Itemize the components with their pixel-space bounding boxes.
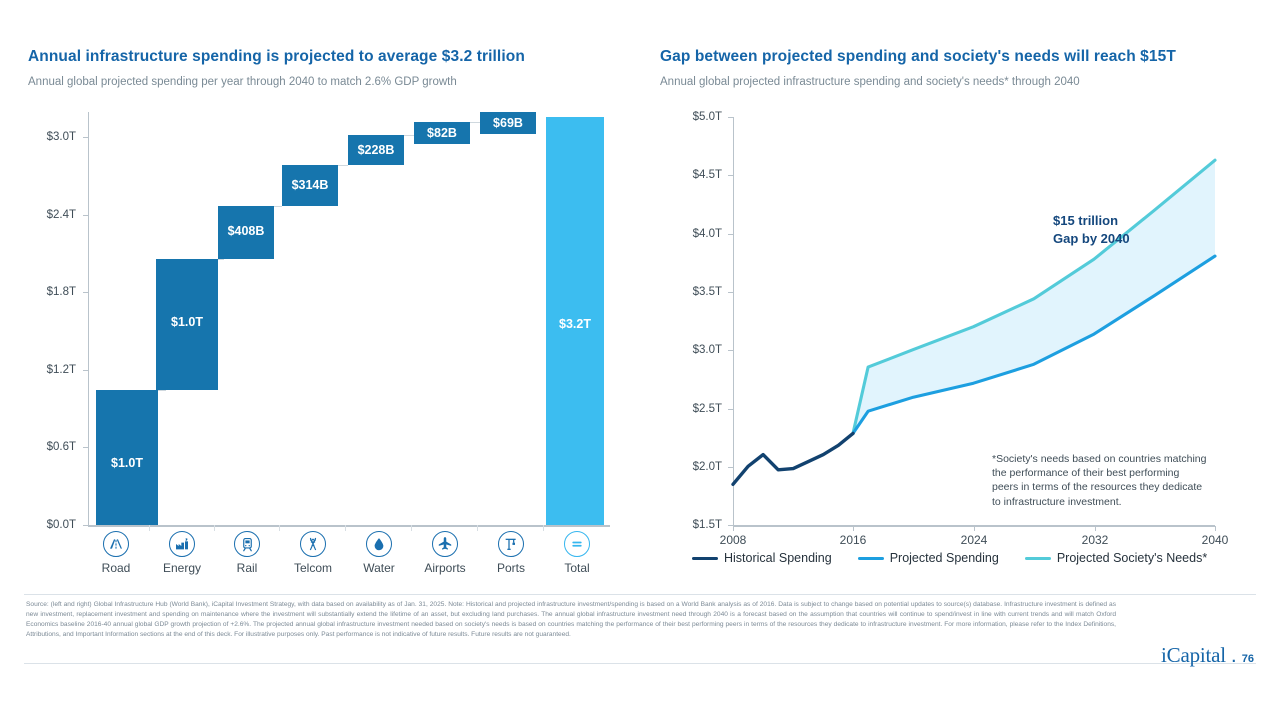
waterfall-bar-value: $1.0T <box>156 315 218 329</box>
page-number: 76 <box>1242 653 1254 665</box>
waterfall-connector <box>218 259 224 260</box>
slide-root: Annual infrastructure spending is projec… <box>0 0 1280 720</box>
waterfall-connector <box>470 122 480 123</box>
xtick-mark <box>733 526 734 531</box>
waterfall-bar-telcom[interactable]: $314B <box>282 165 338 206</box>
category-road[interactable]: Road <box>85 531 147 575</box>
category-total[interactable]: Total <box>546 531 608 575</box>
xtick-mark <box>1215 526 1216 531</box>
series-projected-spending <box>853 256 1215 433</box>
waterfall-bar-value: $69B <box>480 116 536 130</box>
category-telcom[interactable]: Telcom <box>282 531 344 575</box>
category-label: Airports <box>414 561 476 575</box>
category-energy[interactable]: Energy <box>151 531 213 575</box>
ytick-label: $0.0T <box>18 519 76 531</box>
xtick-label: 2008 <box>720 533 747 547</box>
brand-logo: iCapital . 76 <box>1161 643 1254 668</box>
waterfall-connector <box>274 206 282 207</box>
ytick-label: $1.8T <box>18 286 76 298</box>
waterfall-bar-value: $3.2T <box>546 317 604 331</box>
right-chart-panel: Gap between projected spending and socie… <box>640 0 1280 600</box>
waterfall-bar-value: $228B <box>348 143 404 157</box>
category-separator <box>543 525 544 531</box>
rail-train-icon <box>234 531 260 557</box>
ytick-mark <box>728 467 733 468</box>
airplane-icon <box>432 531 458 557</box>
ytick-label: $1.5T <box>662 519 722 531</box>
waterfall-bar-total[interactable]: $3.2T <box>546 117 604 525</box>
ytick-mark <box>728 117 733 118</box>
waterfall-connector <box>158 390 166 391</box>
societys-needs-footnote: *Society's needs based on countries matc… <box>992 452 1207 509</box>
footer-top-rule <box>24 594 1256 595</box>
category-label: Total <box>546 561 608 575</box>
brand-dot: . <box>1231 644 1237 668</box>
category-separator <box>149 525 150 531</box>
left-x-axis <box>88 525 610 527</box>
ytick-mark <box>728 409 733 410</box>
waterfall-bar-airports[interactable]: $82B <box>414 122 470 144</box>
waterfall-bar-value: $82B <box>414 126 470 140</box>
category-label: Water <box>348 561 410 575</box>
waterfall-connector <box>404 135 414 136</box>
waterfall-bar-rail[interactable]: $408B <box>218 206 274 259</box>
series-projected-societys-needs <box>853 160 1215 433</box>
category-label: Ports <box>480 561 542 575</box>
category-label: Rail <box>216 561 278 575</box>
gap-annotation: $15 trillion Gap by 2040 <box>1053 212 1130 247</box>
right-chart-title: Gap between projected spending and socie… <box>660 48 1176 66</box>
road-icon <box>103 531 129 557</box>
water-drop-icon <box>366 531 392 557</box>
ytick-label: $0.6T <box>18 441 76 453</box>
gap-annotation-line2: Gap by 2040 <box>1053 230 1130 248</box>
xtick-label: 2016 <box>840 533 867 547</box>
ytick-mark <box>728 175 733 176</box>
ytick-mark <box>728 350 733 351</box>
waterfall-bar-road[interactable]: $1.0T <box>96 390 158 525</box>
category-water[interactable]: Water <box>348 531 410 575</box>
category-label: Road <box>85 561 147 575</box>
legend-label: Projected Spending <box>890 551 999 565</box>
ytick-label: $4.0T <box>662 228 722 240</box>
xtick-mark <box>1095 526 1096 531</box>
ytick-mark <box>728 234 733 235</box>
waterfall-bar-value: $314B <box>282 178 338 192</box>
right-chart-legend: Historical Spending Projected Spending P… <box>692 551 1207 565</box>
ytick-mark <box>83 447 88 448</box>
xtick-label: 2024 <box>961 533 988 547</box>
left-chart-title: Annual infrastructure spending is projec… <box>28 48 525 66</box>
waterfall-connector <box>338 165 348 166</box>
gap-annotation-line1: $15 trillion <box>1053 212 1130 230</box>
ytick-label: $2.4T <box>18 209 76 221</box>
left-chart-subtitle: Annual global projected spending per yea… <box>28 76 457 88</box>
waterfall-bar-water[interactable]: $228B <box>348 135 404 165</box>
gap-fill-area <box>853 160 1215 433</box>
left-chart-panel: Annual infrastructure spending is projec… <box>0 0 640 600</box>
xtick-label: 2032 <box>1082 533 1109 547</box>
ytick-label: $3.0T <box>18 131 76 143</box>
ytick-label: $2.0T <box>662 461 722 473</box>
category-separator <box>214 525 215 531</box>
category-rail[interactable]: Rail <box>216 531 278 575</box>
category-label: Telcom <box>282 561 344 575</box>
ytick-mark <box>83 370 88 371</box>
ytick-label: $3.0T <box>662 344 722 356</box>
category-separator <box>411 525 412 531</box>
footer-source-note: Source: (left and right) Global Infrastr… <box>26 600 1116 640</box>
port-crane-icon <box>498 531 524 557</box>
category-separator <box>477 525 478 531</box>
ytick-mark <box>83 137 88 138</box>
energy-plant-icon <box>169 531 195 557</box>
ytick-label: $3.5T <box>662 286 722 298</box>
ytick-label: $1.2T <box>18 364 76 376</box>
ytick-mark <box>83 292 88 293</box>
brand-name: iCapital <box>1161 643 1226 668</box>
ytick-label: $2.5T <box>662 403 722 415</box>
right-y-axis <box>733 117 734 526</box>
legend-label: Historical Spending <box>724 551 832 565</box>
telecom-antenna-icon <box>300 531 326 557</box>
legend-item-projected-societys-needs[interactable]: Projected Society's Needs* <box>1025 551 1207 565</box>
ytick-label: $5.0T <box>662 111 722 123</box>
right-chart-subtitle: Annual global projected infrastructure s… <box>660 76 1080 88</box>
category-ports[interactable]: Ports <box>480 531 542 575</box>
category-separator <box>345 525 346 531</box>
category-label: Energy <box>151 561 213 575</box>
gap-series-svg <box>640 0 1280 600</box>
xtick-label: 2040 <box>1202 533 1229 547</box>
legend-item-historical-spending[interactable]: Historical Spending <box>692 551 832 565</box>
legend-label: Projected Society's Needs* <box>1057 551 1207 565</box>
legend-swatch <box>858 557 884 560</box>
waterfall-bar-value: $1.0T <box>96 456 158 470</box>
xtick-mark <box>853 526 854 531</box>
series-historical-spending <box>733 433 853 484</box>
category-separator <box>279 525 280 531</box>
ytick-label: $4.5T <box>662 169 722 181</box>
footer-bottom-rule <box>24 663 1256 664</box>
ytick-mark <box>83 215 88 216</box>
ytick-mark <box>83 525 88 526</box>
waterfall-bar-energy[interactable]: $1.0T <box>156 259 218 390</box>
xtick-mark <box>974 526 975 531</box>
legend-swatch <box>1025 557 1051 560</box>
left-y-axis <box>88 112 89 526</box>
ytick-mark <box>728 292 733 293</box>
legend-item-projected-spending[interactable]: Projected Spending <box>858 551 999 565</box>
waterfall-bar-value: $408B <box>218 224 274 238</box>
category-airports[interactable]: Airports <box>414 531 476 575</box>
legend-swatch <box>692 557 718 560</box>
equals-total-icon <box>564 531 590 557</box>
waterfall-bar-ports[interactable]: $69B <box>480 112 536 134</box>
